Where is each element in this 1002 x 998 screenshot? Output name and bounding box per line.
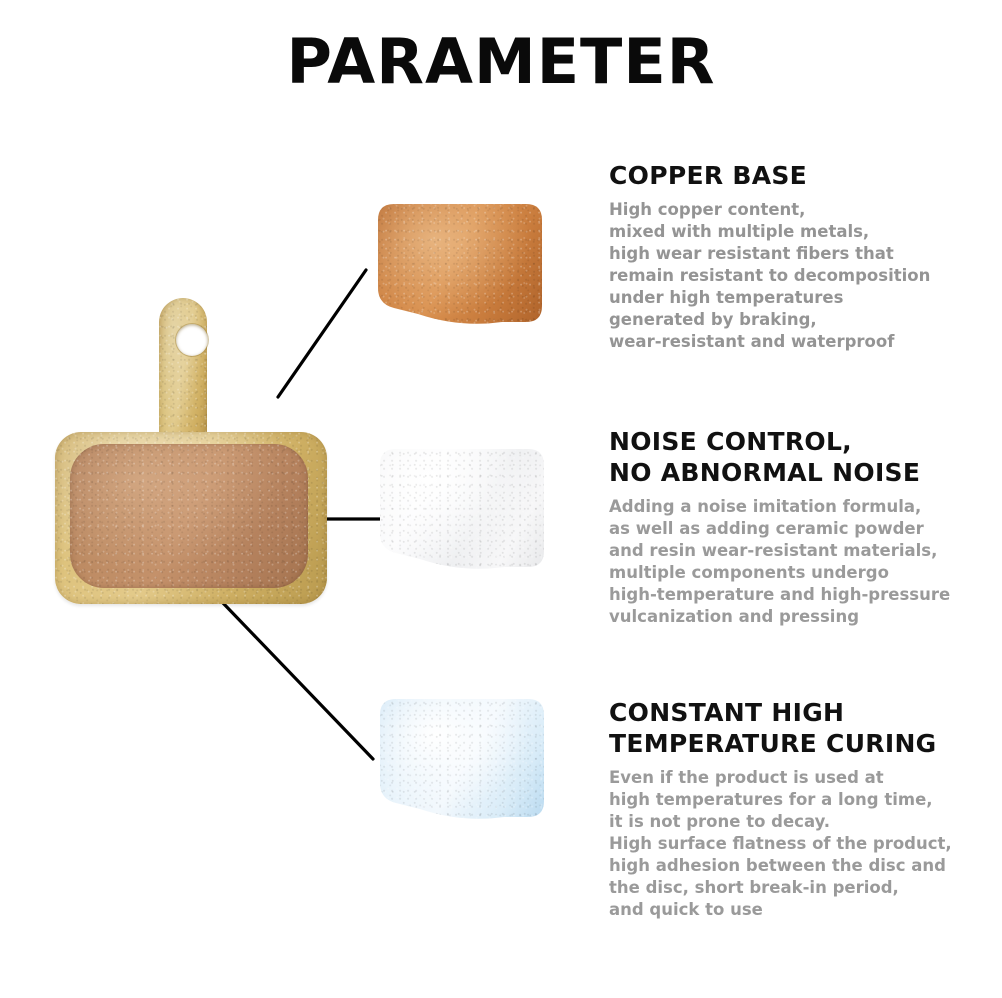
brake-pad-friction-material [70, 444, 308, 588]
page-title: PARAMETER [0, 26, 1002, 98]
feature-block-noise-control: NOISE CONTROL, NO ABNORMAL NOISE Adding … [609, 426, 989, 628]
feature-block-copper-base: COPPER BASE High copper content, mixed w… [609, 160, 989, 353]
connector-line-curing [223, 603, 373, 759]
high-temperature-layer-image [378, 697, 546, 825]
feature-body-temperature-curing: Even if the product is used at high temp… [609, 767, 989, 921]
main-brake-pad [40, 288, 340, 618]
feature-heading-copper-base: COPPER BASE [609, 160, 989, 191]
feature-body-noise-control: Adding a noise imitation formula, as wel… [609, 496, 989, 628]
brake-pad-mounting-hole [176, 324, 208, 356]
feature-body-copper-base: High copper content, mixed with multiple… [609, 199, 989, 353]
noise-control-layer-image [378, 447, 546, 575]
blue-layer-surface [378, 697, 546, 825]
feature-heading-temperature-curing: CONSTANT HIGH TEMPERATURE CURING [609, 697, 989, 759]
ceramic-layer-surface [378, 447, 546, 575]
feature-heading-noise-control: NOISE CONTROL, NO ABNORMAL NOISE [609, 426, 989, 488]
parameter-infographic-page: PARAMETER COPPER BASE High copper conten… [0, 0, 1002, 998]
copper-base-layer-image [376, 202, 544, 330]
copper-layer-surface [376, 202, 544, 330]
feature-block-temperature-curing: CONSTANT HIGH TEMPERATURE CURING Even if… [609, 697, 989, 921]
